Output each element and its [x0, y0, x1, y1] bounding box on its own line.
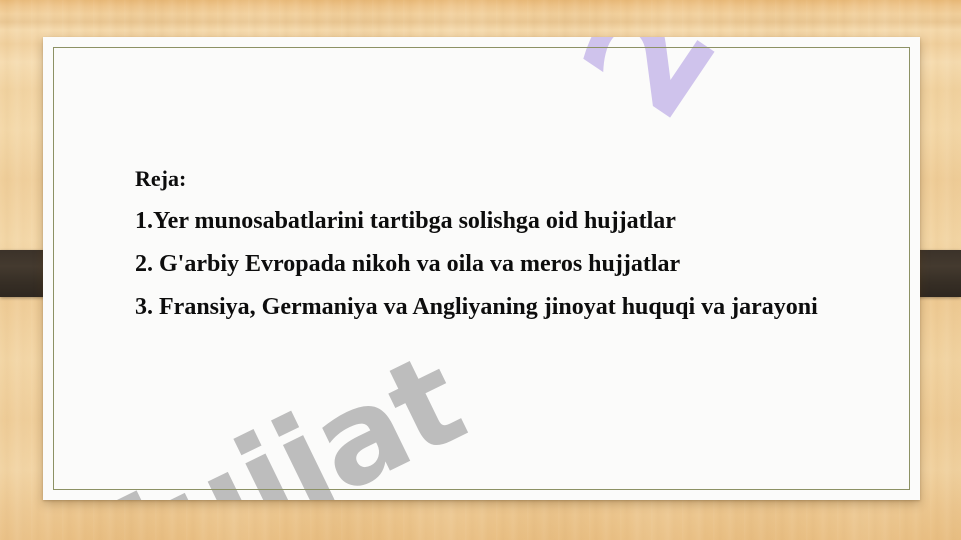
slide-card-surface: 24 Hujjat Reja: 1.Yer munosabatlarini ta…	[43, 37, 920, 500]
slide-text-block: Reja: 1.Yer munosabatlarini tartibga sol…	[135, 157, 855, 329]
watermark-word-hujjat: Hujjat	[45, 335, 480, 500]
slide-list-item-2: 2. G'arbiy Evropada nikoh va oila va mer…	[135, 243, 855, 286]
slide-stage: 24 Hujjat Reja: 1.Yer munosabatlarini ta…	[0, 0, 961, 540]
slide-list-item-3: 3. Fransiya, Germaniya va Angliyaning ji…	[135, 286, 855, 329]
slide-heading: Reja:	[135, 157, 855, 200]
slide-card: 24 Hujjat Reja: 1.Yer munosabatlarini ta…	[43, 37, 920, 500]
slide-list-item-1: 1.Yer munosabatlarini tartibga solishga …	[135, 200, 855, 243]
watermark-number-24: 24	[559, 37, 793, 141]
